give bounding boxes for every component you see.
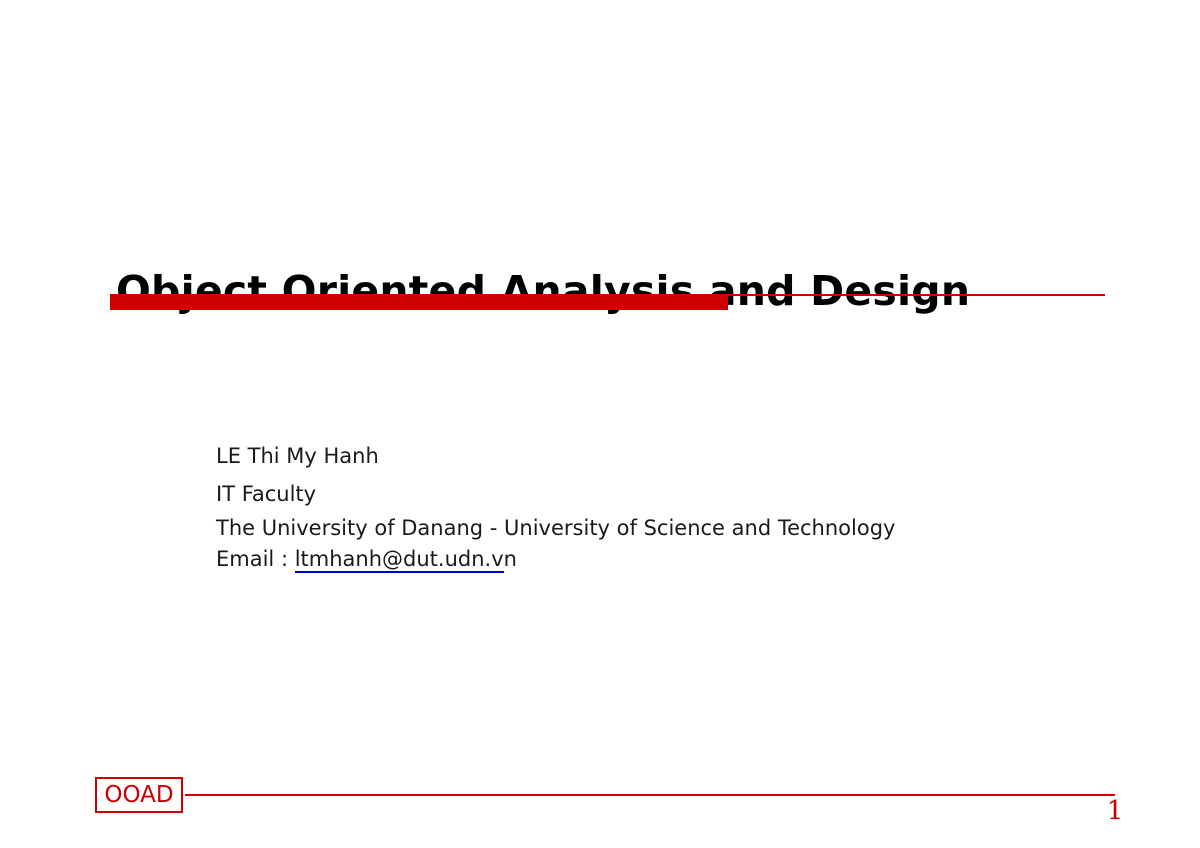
ooad-badge-label: OOAD [104, 784, 173, 807]
email-label: Email : [216, 547, 295, 571]
author-email-line: Email : ltmhanh@dut.udn.vn [216, 544, 1116, 575]
ooad-badge: OOAD [95, 777, 183, 813]
slide-canvas: Object Oriented Analysis and Design LE T… [0, 0, 1200, 848]
page-number: 1 [1095, 798, 1135, 824]
email-link[interactable]: ltmhanh@dut.udn.v [295, 547, 504, 573]
title-underline-thick-bar [110, 296, 728, 310]
author-name: LE Thi My Hanh [216, 437, 1116, 475]
author-faculty: IT Faculty [216, 475, 1116, 513]
footer-divider [185, 794, 1115, 796]
author-institution: The University of Danang - University of… [216, 513, 1116, 544]
email-tail: n [504, 547, 517, 571]
author-block: LE Thi My Hanh IT Faculty The University… [216, 437, 1116, 575]
